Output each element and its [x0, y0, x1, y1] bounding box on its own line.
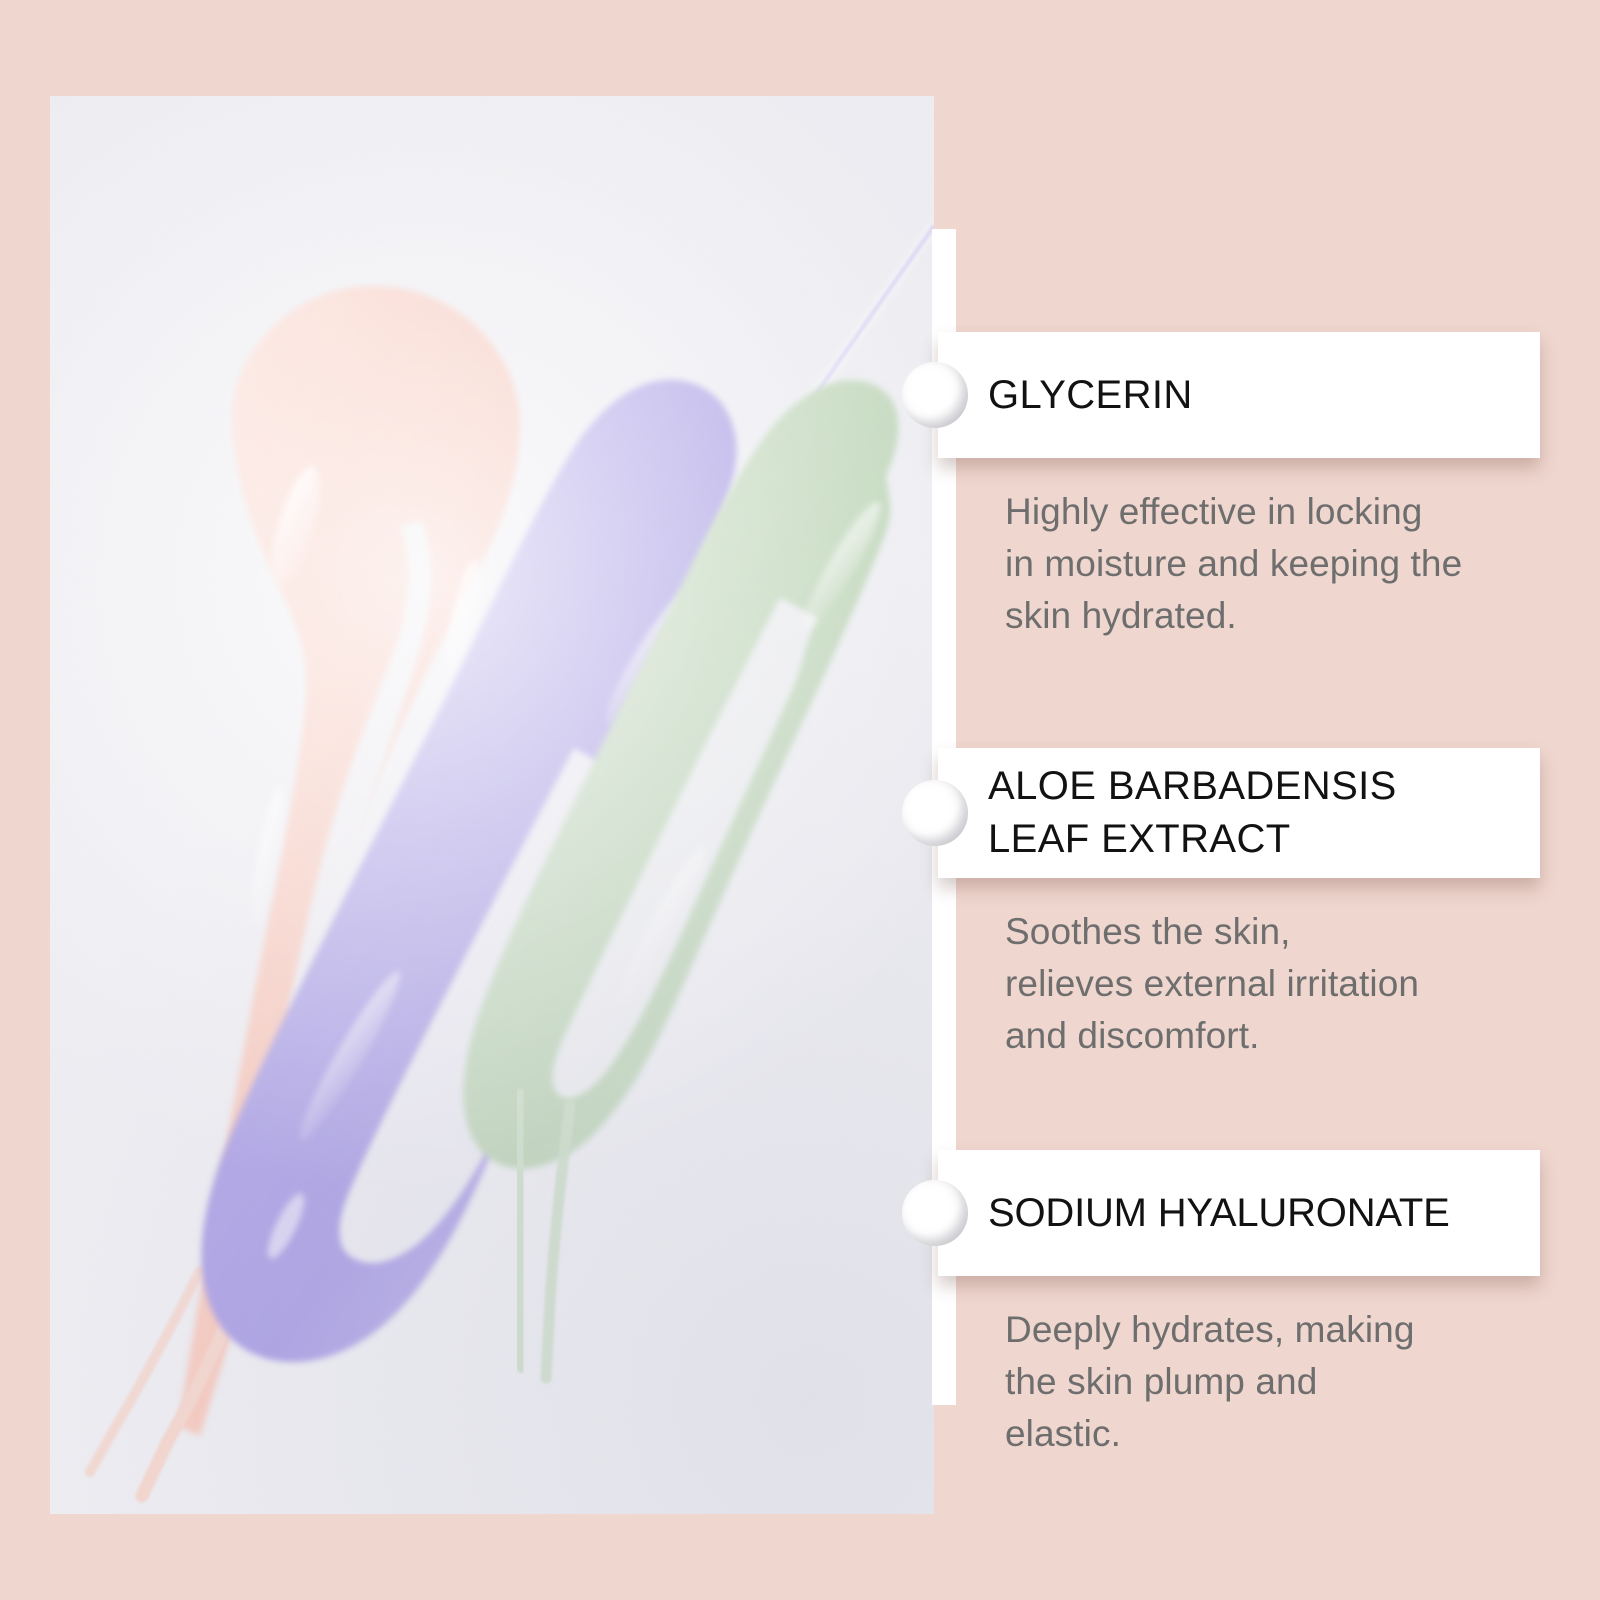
ingredient-title: GLYCERIN [988, 369, 1193, 422]
ingredient-title: ALOE BARBADENSIS LEAF EXTRACT [988, 760, 1397, 866]
ingredient-description: Highly effective in locking in moisture … [1005, 486, 1565, 642]
bullet-dot-icon [902, 1180, 968, 1246]
ingredient-infographic: GLYCERIN Highly effective in locking in … [0, 0, 1600, 1600]
bullet-dot-icon [902, 780, 968, 846]
bullet-dot-icon [902, 362, 968, 428]
ingredient-title-card[interactable]: GLYCERIN [938, 332, 1540, 458]
ingredient-block-sodium-hyaluronate: SODIUM HYALURONATE Deeply hydrates, maki… [938, 1150, 1540, 1276]
ingredient-block-aloe-barbadensis-leaf-extract: ALOE BARBADENSIS LEAF EXTRACT Soothes th… [938, 748, 1540, 878]
product-photo-panel [50, 96, 934, 1514]
ingredient-block-glycerin: GLYCERIN Highly effective in locking in … [938, 332, 1540, 458]
ingredient-title: SODIUM HYALURONATE [988, 1187, 1450, 1240]
ingredient-title-card[interactable]: SODIUM HYALURONATE [938, 1150, 1540, 1276]
ingredient-description: Soothes the skin, relieves external irri… [1005, 906, 1565, 1062]
ingredient-description: Deeply hydrates, making the skin plump a… [1005, 1304, 1565, 1460]
ingredient-title-card[interactable]: ALOE BARBADENSIS LEAF EXTRACT [938, 748, 1540, 878]
cream-swatch-illustration [50, 96, 934, 1514]
